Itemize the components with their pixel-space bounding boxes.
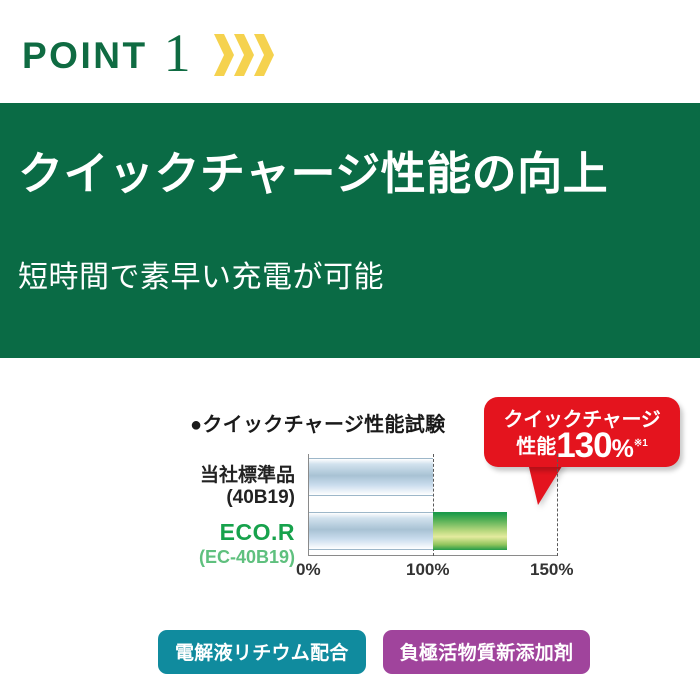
gridline-150	[557, 454, 558, 556]
badge-negative-electrode-additive: 負極活物質新添加剤	[383, 630, 591, 674]
bar-standard-base	[309, 458, 433, 496]
category-label-standard: 当社標準品 (40B19)	[60, 465, 295, 510]
callout-value: 130	[556, 426, 611, 465]
callout-footnote-marker: ※1	[634, 438, 648, 449]
point-number: 1	[164, 24, 191, 80]
badge-electrolyte-lithium: 電解液リチウム配合	[158, 630, 366, 674]
headline-banner: クイックチャージ性能の向上 短時間で素早い充電が可能	[0, 103, 700, 358]
bar-chart-plot	[308, 454, 558, 556]
xtick-150: 150%	[530, 560, 573, 580]
chart-card: ●クイックチャージ性能試験 クイックチャージ 性能130%※1 当社標準品 (4…	[0, 358, 700, 700]
bar-ecor-base	[309, 512, 433, 550]
chart-title: ●クイックチャージ性能試験	[190, 408, 445, 437]
point-header: POINT 1	[0, 0, 700, 103]
chevron-right-icon-3	[253, 32, 274, 78]
category-label-standard-main: 当社標準品	[200, 465, 295, 486]
point-label: POINT	[22, 29, 148, 74]
chevron-right-icon-1	[213, 32, 234, 78]
bar-ecor-gain	[433, 512, 507, 550]
category-label-ecor-sub: (EC-40B19)	[60, 547, 295, 568]
xtick-100: 100%	[406, 560, 449, 580]
banner-heading: クイックチャージ性能の向上	[18, 149, 608, 199]
chevron-group	[213, 26, 273, 78]
category-label-ecor-main: ECO.R	[60, 519, 295, 546]
point-1-feature-panel: POINT 1 クイックチャージ性能の向上 短時間で素早い充電が可能 ●クイック…	[0, 0, 700, 700]
category-label-ecor: ECO.R (EC-40B19)	[60, 519, 295, 568]
callout-unit: %	[612, 435, 634, 463]
chevron-right-icon-2	[233, 32, 254, 78]
banner-subtitle: 短時間で素早い充電が可能	[18, 260, 384, 296]
xtick-0: 0%	[296, 560, 321, 580]
category-label-standard-sub: (40B19)	[226, 487, 295, 508]
feature-badge-group: 電解液リチウム配合 負極活物質新添加剤	[0, 630, 700, 674]
